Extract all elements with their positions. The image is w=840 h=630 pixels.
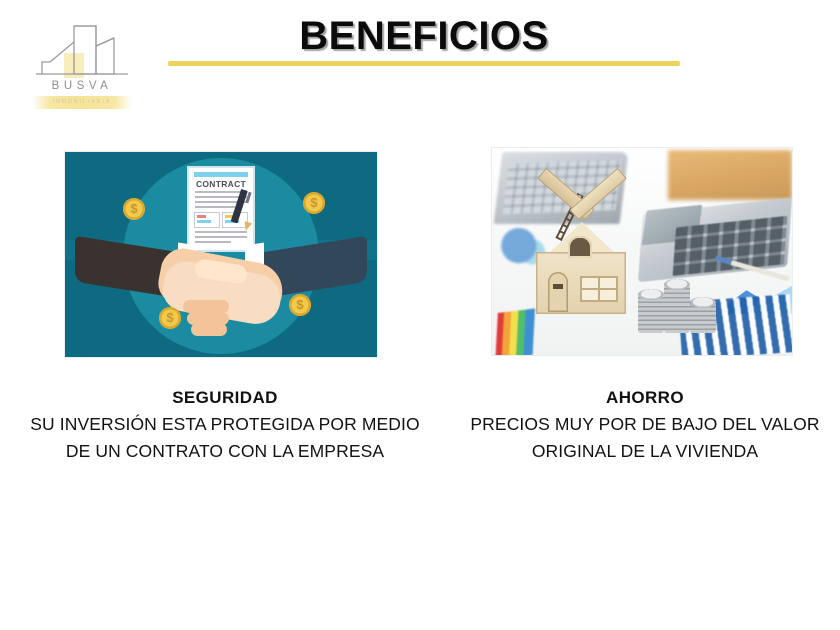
house-model-coins-photo (492, 148, 792, 355)
contract-text-line (195, 236, 247, 238)
house-door (548, 272, 568, 312)
coin-icon: $ (123, 198, 145, 220)
benefit-panel-ahorro (492, 148, 792, 355)
slide-canvas: BUSVA INMOBILIARIA BENEFICIOS CONTRACT (0, 0, 840, 630)
contract-title: CONTRACT (189, 179, 253, 189)
contract-field-tag (197, 215, 206, 218)
title-underline (168, 61, 680, 66)
finger (191, 323, 227, 336)
benefit-panel-seguridad: CONTRACT (65, 152, 377, 357)
page-title: BENEFICIOS (168, 14, 680, 59)
caption-heading: AHORRO (460, 388, 830, 408)
brand-logo: BUSVA INMOBILIARIA (26, 24, 138, 108)
caption-seguridad: SEGURIDAD SU INVERSIÓN ESTA PROTEGIDA PO… (30, 388, 420, 465)
caption-ahorro: AHORRO PRECIOS MUY POR DE BAJO DEL VALOR… (460, 388, 830, 465)
logo-subtitle: INMOBILIARIA (32, 96, 132, 109)
contract-text-line (195, 206, 235, 208)
photo-backdrop (492, 148, 792, 355)
contract-document: CONTRACT (189, 168, 253, 250)
caption-body: SU INVERSIÓN ESTA PROTEGIDA POR MEDIO DE… (30, 411, 420, 465)
arched-window (568, 236, 592, 258)
caption-body: PRECIOS MUY POR DE BAJO DEL VALOR ORIGIN… (460, 411, 830, 465)
wood-surface (668, 150, 792, 200)
coin-icon: $ (303, 192, 325, 214)
coin-stack (638, 289, 664, 333)
contract-text-line (195, 241, 231, 243)
contract-field-tag (197, 220, 211, 223)
coin-icon: $ (289, 294, 311, 316)
logo-wordmark: BUSVA (26, 80, 138, 92)
contract-text-line (195, 231, 247, 233)
coin-stack (664, 279, 690, 333)
coin-stack (690, 297, 716, 333)
coin-icon: $ (159, 307, 181, 329)
contract-header-bar (194, 172, 248, 177)
building-outline-icon (34, 24, 130, 80)
caption-heading: SEGURIDAD (30, 388, 420, 408)
door-mail-slot (553, 284, 563, 289)
handshake-contract-illustration: CONTRACT (65, 152, 377, 357)
house-window (580, 276, 618, 302)
wooden-house-model (528, 204, 636, 318)
